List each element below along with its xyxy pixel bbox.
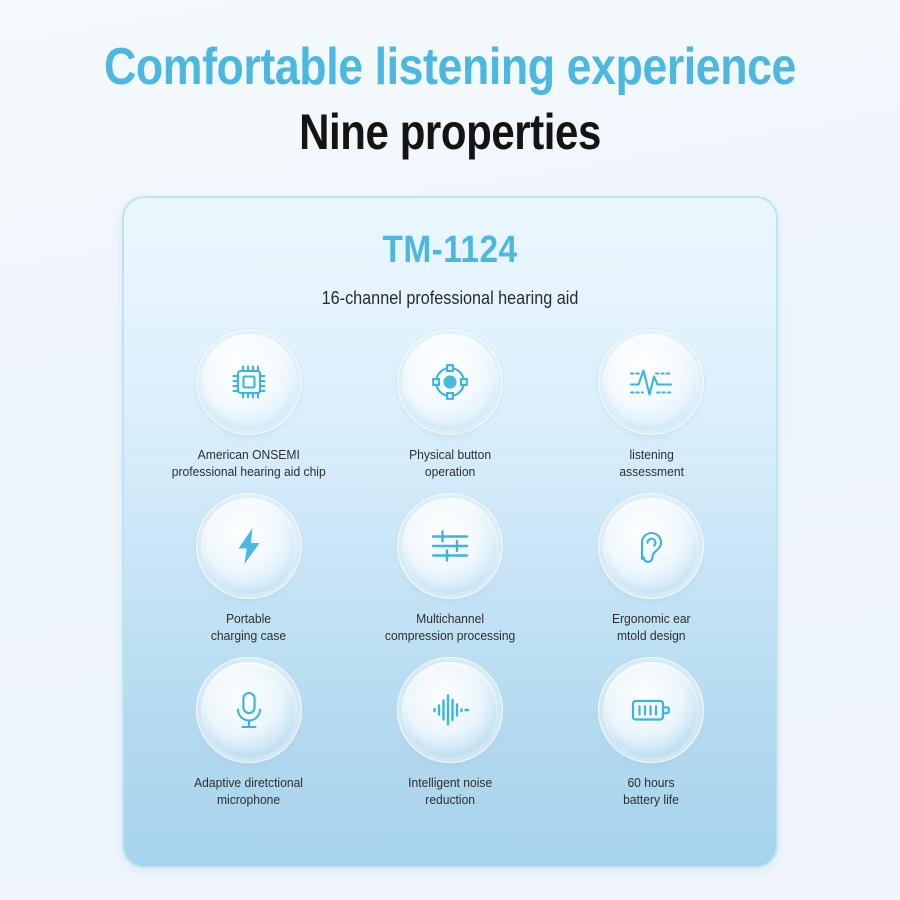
physical-button-icon — [402, 334, 498, 430]
battery-icon — [603, 662, 699, 758]
feature-item[interactable]: 60 hours battery life — [551, 662, 752, 808]
chip-icon — [201, 334, 297, 430]
waveform-pulse-icon — [603, 334, 699, 430]
feature-label: Multichannel compression processing — [385, 610, 515, 644]
feature-label: Adaptive diretctional microphone — [194, 774, 303, 808]
feature-item[interactable]: Portable charging case — [148, 498, 349, 644]
feature-label: American ONSEMI professional hearing aid… — [172, 446, 326, 480]
feature-item[interactable]: American ONSEMI professional hearing aid… — [148, 334, 349, 480]
feature-grid: American ONSEMI professional hearing aid… — [124, 334, 776, 808]
feature-item[interactable]: Physical button operation — [349, 334, 550, 480]
headings-block: Comfortable listening experience Nine pr… — [0, 0, 900, 160]
feature-item[interactable]: listening assessment — [551, 334, 752, 480]
feature-label: Physical button operation — [409, 446, 491, 480]
product-card: TM-1124 16-channel professional hearing … — [122, 196, 778, 868]
ear-icon — [603, 498, 699, 594]
audio-bars-icon — [402, 662, 498, 758]
feature-label: 60 hours battery life — [623, 774, 679, 808]
page-title: Comfortable listening experience — [63, 38, 837, 96]
lightning-bolt-icon — [201, 498, 297, 594]
product-model: TM-1124 — [163, 228, 737, 272]
equalizer-sliders-icon — [402, 498, 498, 594]
microphone-icon — [201, 662, 297, 758]
feature-item[interactable]: Multichannel compression processing — [349, 498, 550, 644]
promo-page: Comfortable listening experience Nine pr… — [0, 0, 900, 900]
feature-label: listening assessment — [619, 446, 684, 480]
feature-label: Ergonomic ear mtold design — [612, 610, 691, 644]
feature-label: Portable charging case — [211, 610, 286, 644]
feature-item[interactable]: Ergonomic ear mtold design — [551, 498, 752, 644]
feature-label: Intelligent noise reduction — [408, 774, 492, 808]
page-subtitle: Nine properties — [72, 104, 828, 160]
feature-item[interactable]: Adaptive diretctional microphone — [148, 662, 349, 808]
product-tagline: 16-channel professional hearing aid — [157, 286, 744, 310]
feature-item[interactable]: Intelligent noise reduction — [349, 662, 550, 808]
